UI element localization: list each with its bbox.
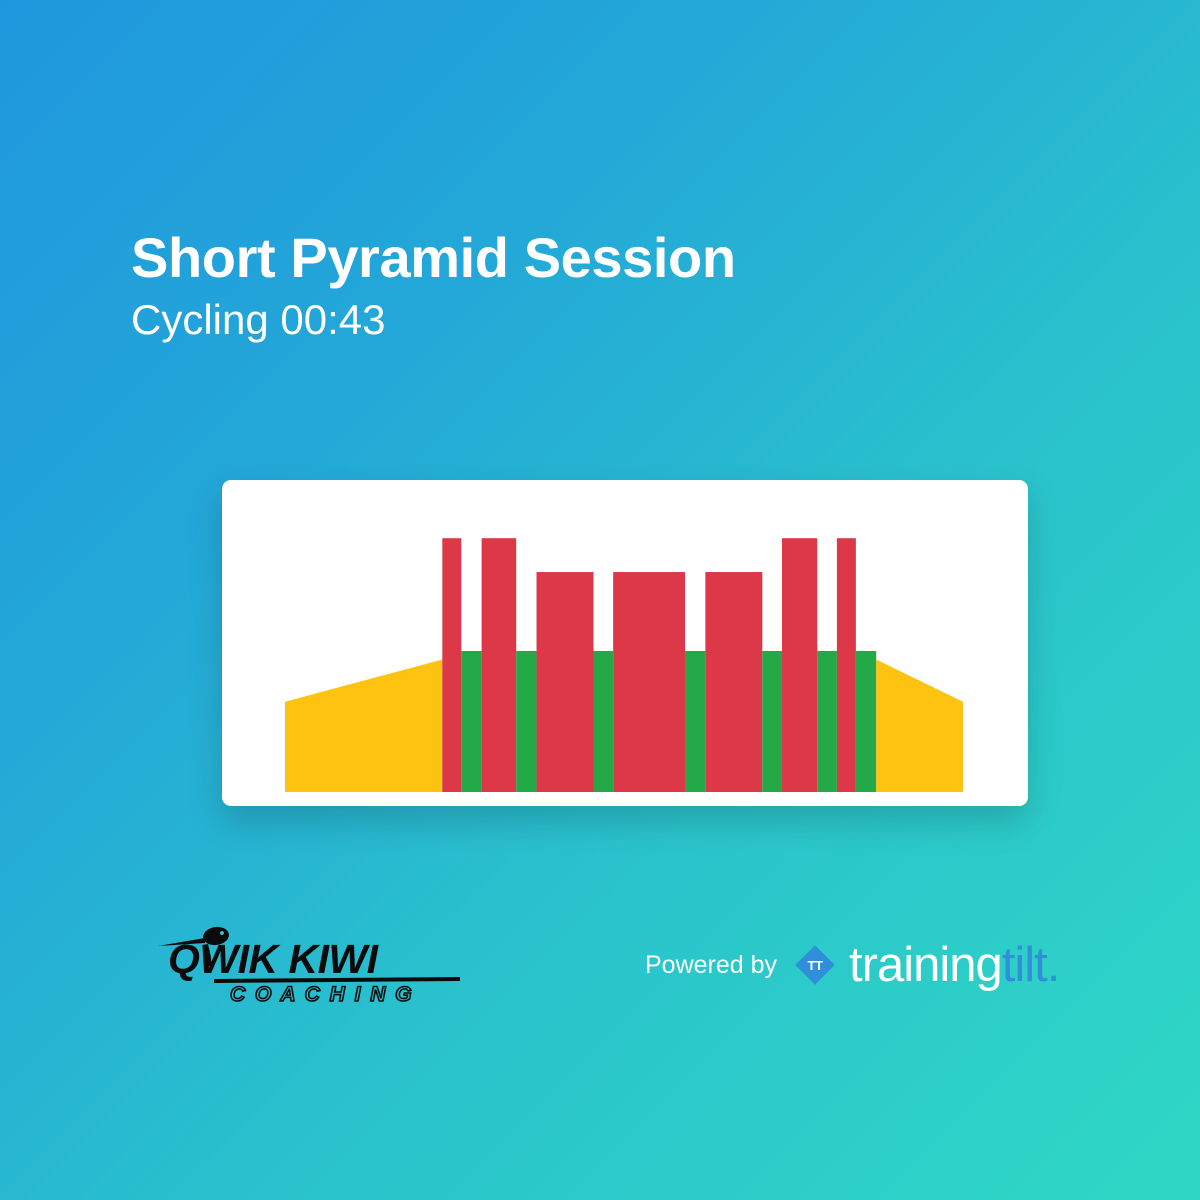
- chart-segment-recovery: [817, 651, 837, 792]
- footer: QWIK KIWI C O A C H I N G Powered by TT …: [0, 925, 1200, 1015]
- chart-segment-work: [782, 538, 817, 792]
- chart-segments-group: [285, 538, 963, 792]
- workout-chart-plot: [285, 510, 963, 792]
- chart-segment-recovery: [685, 651, 705, 792]
- chart-segment-warmup: [285, 659, 442, 792]
- workout-profile-chart: [285, 510, 963, 792]
- qwik-kiwi-wordmark-line2: C O A C H I N G: [230, 983, 414, 1005]
- wordmark-tilt: tilt: [1002, 938, 1047, 992]
- chart-segment-work: [837, 538, 856, 792]
- chart-segment-recovery: [593, 651, 613, 792]
- chart-segment-work: [482, 538, 517, 792]
- wordmark-dot: .: [1047, 938, 1060, 992]
- page-title: Short Pyramid Session: [131, 228, 1031, 287]
- session-subtitle: Cycling 00:43: [131, 297, 1031, 343]
- workout-chart-card: [222, 480, 1028, 806]
- qwik-kiwi-wordmark-line1: QWIK KIWI: [168, 936, 380, 982]
- chart-segment-work: [705, 572, 762, 792]
- training-tilt-diamond-icon: TT: [793, 943, 837, 987]
- wordmark-training: training: [849, 938, 1002, 992]
- chart-segment-recovery: [516, 651, 536, 792]
- powered-by-block[interactable]: Powered by TT trainingtilt.: [645, 937, 1059, 993]
- chart-segment-recovery: [856, 651, 876, 792]
- tt-monogram: TT: [808, 958, 823, 973]
- powered-by-label: Powered by: [645, 951, 777, 980]
- training-tilt-wordmark: trainingtilt.: [849, 941, 1059, 990]
- qwik-kiwi-logo[interactable]: QWIK KIWI C O A C H I N G: [152, 925, 472, 1005]
- chart-segment-work: [442, 538, 461, 792]
- header: Short Pyramid Session Cycling 00:43: [131, 228, 1031, 344]
- chart-segment-recovery: [461, 651, 481, 792]
- chart-segment-work: [537, 572, 594, 792]
- chart-segment-warmup: [876, 659, 963, 792]
- chart-segment-work: [613, 572, 685, 792]
- qwik-kiwi-logo-graphic: QWIK KIWI C O A C H I N G: [152, 925, 472, 1005]
- chart-segment-recovery: [762, 651, 782, 792]
